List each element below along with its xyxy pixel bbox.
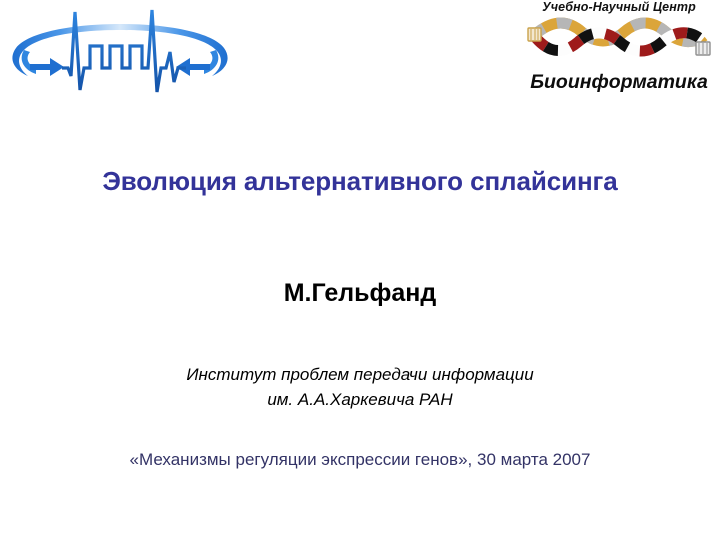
ring-band-left-front — [22, 50, 36, 74]
affiliation-line-2: им. А.А.Харкевича РАН — [0, 387, 720, 412]
dna-clasp-left — [528, 28, 541, 41]
bioinformatics-center-logo: Учебно-Научный Центр — [522, 0, 716, 108]
presenter-name: М.Гельфанд — [0, 279, 720, 308]
affiliation: Институт проблем передачи информации им.… — [0, 362, 720, 412]
event-and-date: «Механизмы регуляции экспрессии генов», … — [0, 450, 720, 470]
presentation-title-slide: Учебно-Научный Центр — [0, 0, 720, 540]
logo-center-name-text: Учебно-Научный Центр — [522, 0, 716, 15]
dna-helix-icon — [524, 16, 714, 72]
dna-clasp-right — [696, 42, 710, 55]
logo-bioinformatics-text: Биоинформатика — [522, 71, 716, 93]
waveform-icon — [62, 10, 186, 92]
signal-ring-logo — [2, 2, 238, 112]
affiliation-line-1: Институт проблем передачи информации — [0, 362, 720, 387]
ring-band-right-front — [204, 50, 218, 74]
slide-title: Эволюция альтернативного сплайсинга — [0, 166, 720, 197]
